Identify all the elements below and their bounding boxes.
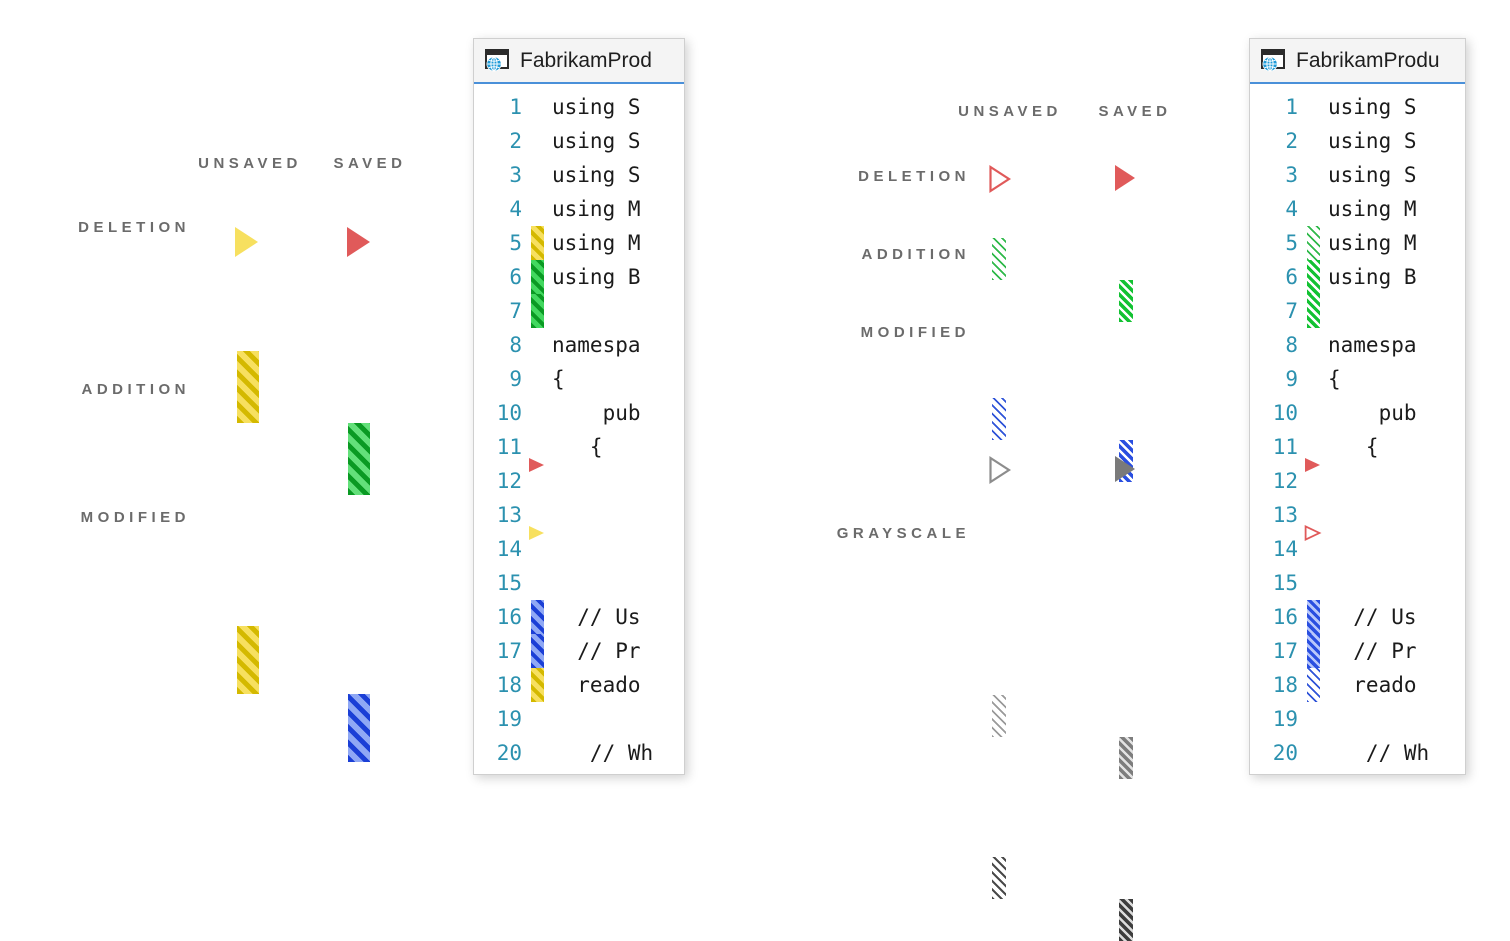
line-number: 5 bbox=[1250, 231, 1302, 255]
pattern-legend-column-header-unsaved: UNSAVED bbox=[940, 103, 1080, 120]
change-gutter[interactable] bbox=[1302, 362, 1328, 396]
change-gutter[interactable] bbox=[526, 124, 552, 158]
pattern-marker-deletion-unsaved bbox=[988, 164, 1012, 194]
gutter-change-bar bbox=[531, 668, 544, 702]
code-line[interactable]: 7 bbox=[474, 294, 684, 328]
code-line[interactable]: 1using S bbox=[1250, 90, 1465, 124]
change-gutter[interactable] bbox=[526, 362, 552, 396]
line-number: 20 bbox=[1250, 741, 1302, 765]
code-line[interactable]: 19 bbox=[1250, 702, 1465, 736]
code-line[interactable]: 6using B bbox=[1250, 260, 1465, 294]
editor-pattern[interactable]: FabrikamProdu 1using S2using S3using S4u… bbox=[1249, 38, 1466, 775]
change-gutter[interactable] bbox=[1302, 532, 1328, 566]
code-line[interactable]: 20 // Wh bbox=[1250, 736, 1465, 770]
legend-row-label-deletion: DELETION bbox=[20, 219, 190, 236]
change-gutter[interactable] bbox=[526, 192, 552, 226]
line-number: 18 bbox=[1250, 673, 1302, 697]
line-number: 2 bbox=[474, 129, 526, 153]
code-text: using S bbox=[1328, 95, 1465, 119]
code-line[interactable]: 8namespa bbox=[1250, 328, 1465, 362]
change-gutter[interactable] bbox=[526, 396, 552, 430]
change-gutter[interactable] bbox=[1302, 260, 1328, 294]
pattern-legend-row-label-modified: MODIFIED bbox=[800, 324, 970, 341]
code-line[interactable]: 15 bbox=[1250, 566, 1465, 600]
line-number: 11 bbox=[474, 435, 526, 459]
comparison-figure: UNSAVED SAVED DELETION ADDITION MODIFIED bbox=[0, 0, 1510, 826]
line-number: 14 bbox=[1250, 537, 1302, 561]
code-line[interactable]: 16 // Us bbox=[1250, 600, 1465, 634]
line-number: 7 bbox=[474, 299, 526, 323]
line-number: 19 bbox=[1250, 707, 1302, 731]
grayscale-marker-deletion-saved bbox=[1115, 456, 1135, 482]
legend-row-label-modified: MODIFIED bbox=[20, 509, 190, 526]
change-gutter[interactable] bbox=[1302, 668, 1328, 702]
line-number: 12 bbox=[474, 469, 526, 493]
code-text: // Pr bbox=[1328, 639, 1465, 663]
legend-column-header-saved: SAVED bbox=[300, 155, 440, 172]
pattern-legend: UNSAVED SAVED DELETION ADDITION MODIFIED… bbox=[760, 0, 1200, 700]
code-line[interactable]: 13 bbox=[474, 498, 684, 532]
change-gutter[interactable] bbox=[1302, 294, 1328, 328]
change-gutter[interactable] bbox=[1302, 328, 1328, 362]
code-text: reado bbox=[1328, 673, 1465, 697]
code-text: { bbox=[1328, 367, 1465, 391]
gutter-change-bar bbox=[531, 600, 544, 634]
gutter-change-bar bbox=[1307, 294, 1320, 328]
change-gutter[interactable] bbox=[1302, 158, 1328, 192]
line-number: 2 bbox=[1250, 129, 1302, 153]
legend-row-label-addition: ADDITION bbox=[20, 381, 190, 398]
change-gutter[interactable] bbox=[526, 600, 552, 634]
code-text: using S bbox=[552, 129, 684, 153]
code-line[interactable]: 20 // Wh bbox=[474, 736, 684, 770]
editor-titlebar[interactable]: FabrikamProd bbox=[474, 39, 684, 84]
code-line[interactable]: 4using M bbox=[1250, 192, 1465, 226]
gutter-change-bar bbox=[531, 634, 544, 668]
editor-code-area[interactable]: 1using S2using S3using S4using M5using M… bbox=[1250, 84, 1465, 770]
line-number: 4 bbox=[474, 197, 526, 221]
code-line[interactable]: 10 pub bbox=[1250, 396, 1465, 430]
pattern-marker-modified-unsaved bbox=[992, 398, 1006, 440]
code-line[interactable]: 15 bbox=[474, 566, 684, 600]
code-line[interactable]: 5using M bbox=[474, 226, 684, 260]
marker-deletion-unsaved bbox=[235, 227, 258, 257]
code-line[interactable]: 16 // Us bbox=[474, 600, 684, 634]
gutter-change-bar bbox=[531, 226, 544, 260]
code-line[interactable]: 5using M bbox=[1250, 226, 1465, 260]
code-line[interactable]: 19 bbox=[474, 702, 684, 736]
line-number: 8 bbox=[474, 333, 526, 357]
marker-addition-unsaved bbox=[237, 351, 259, 423]
code-text: // Us bbox=[552, 605, 684, 629]
change-gutter[interactable] bbox=[1302, 90, 1328, 124]
line-number: 6 bbox=[1250, 265, 1302, 289]
code-text: reado bbox=[552, 673, 684, 697]
change-gutter[interactable] bbox=[526, 668, 552, 702]
change-gutter[interactable] bbox=[526, 532, 552, 566]
code-line[interactable]: 11 { bbox=[1250, 430, 1465, 464]
line-number: 10 bbox=[474, 401, 526, 425]
editor-code-area[interactable]: 1using S2using S3using S4using M5using M… bbox=[474, 84, 684, 770]
grayscale-marker-modified-saved bbox=[1119, 899, 1133, 941]
editor-color[interactable]: FabrikamProd 1using S2using S3using S4us… bbox=[473, 38, 685, 775]
line-number: 1 bbox=[1250, 95, 1302, 119]
pattern-marker-deletion-saved bbox=[1115, 165, 1135, 191]
change-gutter[interactable] bbox=[1302, 124, 1328, 158]
editor-titlebar-right[interactable]: FabrikamProdu bbox=[1250, 39, 1465, 84]
grayscale-marker-deletion-unsaved bbox=[988, 455, 1012, 485]
change-gutter[interactable] bbox=[1302, 736, 1328, 770]
code-text: namespa bbox=[552, 333, 684, 357]
gutter-change-bar bbox=[1307, 668, 1320, 702]
code-line[interactable]: 18 reado bbox=[1250, 668, 1465, 702]
code-line[interactable]: 12 bbox=[474, 464, 684, 498]
code-text: using M bbox=[552, 231, 684, 255]
code-line[interactable]: 9{ bbox=[1250, 362, 1465, 396]
code-line[interactable]: 13 bbox=[1250, 498, 1465, 532]
line-number: 3 bbox=[474, 163, 526, 187]
code-text: // Wh bbox=[552, 741, 684, 765]
code-text: using M bbox=[552, 197, 684, 221]
code-line[interactable]: 11 { bbox=[474, 430, 684, 464]
gutter-deletion-triangle bbox=[528, 455, 546, 473]
code-line[interactable]: 1using S bbox=[474, 90, 684, 124]
change-gutter[interactable] bbox=[526, 90, 552, 124]
change-gutter[interactable] bbox=[526, 260, 552, 294]
pattern-legend-row-label-deletion: DELETION bbox=[800, 168, 970, 185]
pattern-marker-addition-unsaved bbox=[992, 238, 1006, 280]
color-legend: UNSAVED SAVED DELETION ADDITION MODIFIED bbox=[0, 0, 460, 600]
code-text: // Wh bbox=[1328, 741, 1465, 765]
line-number: 17 bbox=[474, 639, 526, 663]
line-number: 8 bbox=[1250, 333, 1302, 357]
code-line[interactable]: 6using B bbox=[474, 260, 684, 294]
legend-column-header-unsaved: UNSAVED bbox=[180, 155, 320, 172]
change-gutter[interactable] bbox=[526, 158, 552, 192]
editor-title-text: FabrikamProd bbox=[520, 49, 652, 73]
change-gutter[interactable] bbox=[526, 736, 552, 770]
pattern-marker-addition-saved bbox=[1119, 280, 1133, 322]
change-gutter[interactable] bbox=[1302, 702, 1328, 736]
change-gutter[interactable] bbox=[526, 634, 552, 668]
code-line[interactable]: 8namespa bbox=[474, 328, 684, 362]
gutter-change-bar bbox=[1307, 260, 1320, 294]
line-number: 20 bbox=[474, 741, 526, 765]
code-text: using S bbox=[552, 163, 684, 187]
gutter-deletion-triangle bbox=[1304, 455, 1322, 473]
code-line[interactable]: 17 // Pr bbox=[474, 634, 684, 668]
gutter-deletion-triangle bbox=[528, 523, 546, 541]
gutter-change-bar bbox=[531, 294, 544, 328]
line-number: 10 bbox=[1250, 401, 1302, 425]
grayscale-marker-modified-unsaved bbox=[992, 857, 1006, 899]
change-gutter[interactable] bbox=[526, 328, 552, 362]
line-number: 13 bbox=[474, 503, 526, 527]
code-line[interactable]: 17 // Pr bbox=[1250, 634, 1465, 668]
line-number: 1 bbox=[474, 95, 526, 119]
code-text: using S bbox=[552, 95, 684, 119]
gutter-change-bar bbox=[1307, 600, 1320, 634]
code-line[interactable]: 7 bbox=[1250, 294, 1465, 328]
editor-title-text: FabrikamProdu bbox=[1296, 49, 1440, 73]
line-number: 15 bbox=[1250, 571, 1302, 595]
code-text: { bbox=[552, 435, 684, 459]
line-number: 6 bbox=[474, 265, 526, 289]
change-gutter[interactable] bbox=[526, 464, 552, 498]
change-gutter[interactable] bbox=[1302, 396, 1328, 430]
code-line[interactable]: 3using S bbox=[474, 158, 684, 192]
code-text: { bbox=[552, 367, 684, 391]
code-text: // Pr bbox=[552, 639, 684, 663]
marker-modified-saved bbox=[348, 694, 370, 762]
line-number: 11 bbox=[1250, 435, 1302, 459]
code-line[interactable]: 3using S bbox=[1250, 158, 1465, 192]
change-gutter[interactable] bbox=[1302, 634, 1328, 668]
line-number: 4 bbox=[1250, 197, 1302, 221]
marker-modified-unsaved bbox=[237, 626, 259, 694]
code-text: // Us bbox=[1328, 605, 1465, 629]
code-line[interactable]: 10 pub bbox=[474, 396, 684, 430]
line-number: 5 bbox=[474, 231, 526, 255]
marker-deletion-saved bbox=[347, 227, 370, 257]
line-number: 17 bbox=[1250, 639, 1302, 663]
code-line[interactable]: 18 reado bbox=[474, 668, 684, 702]
gutter-change-bar bbox=[1307, 634, 1320, 668]
line-number: 16 bbox=[1250, 605, 1302, 629]
line-number: 15 bbox=[474, 571, 526, 595]
change-gutter[interactable] bbox=[1302, 566, 1328, 600]
grayscale-marker-addition-saved bbox=[1119, 737, 1133, 779]
line-number: 9 bbox=[474, 367, 526, 391]
code-text: using S bbox=[1328, 129, 1465, 153]
line-number: 3 bbox=[1250, 163, 1302, 187]
change-gutter[interactable] bbox=[1302, 226, 1328, 260]
change-gutter[interactable] bbox=[1302, 600, 1328, 634]
code-line[interactable]: 2using S bbox=[1250, 124, 1465, 158]
gutter-deletion-triangle bbox=[1304, 523, 1322, 541]
code-text: namespa bbox=[1328, 333, 1465, 357]
code-text: using M bbox=[1328, 231, 1465, 255]
code-text: using M bbox=[1328, 197, 1465, 221]
code-line[interactable]: 14 bbox=[474, 532, 684, 566]
code-text: using S bbox=[1328, 163, 1465, 187]
change-gutter[interactable] bbox=[1302, 464, 1328, 498]
line-number: 18 bbox=[474, 673, 526, 697]
pattern-legend-row-label-grayscale: GRAYSCALE bbox=[780, 525, 970, 542]
line-number: 7 bbox=[1250, 299, 1302, 323]
line-number: 9 bbox=[1250, 367, 1302, 391]
code-text: pub bbox=[1328, 401, 1465, 425]
gutter-change-bar bbox=[1307, 226, 1320, 260]
change-gutter[interactable] bbox=[1302, 192, 1328, 226]
code-line[interactable]: 9{ bbox=[474, 362, 684, 396]
pattern-legend-column-header-saved: SAVED bbox=[1065, 103, 1205, 120]
web-form-globe-icon bbox=[485, 49, 511, 73]
marker-addition-saved bbox=[348, 423, 370, 495]
line-number: 16 bbox=[474, 605, 526, 629]
change-gutter[interactable] bbox=[526, 702, 552, 736]
code-text: using B bbox=[1328, 265, 1465, 289]
change-gutter[interactable] bbox=[526, 226, 552, 260]
code-line[interactable]: 12 bbox=[1250, 464, 1465, 498]
grayscale-marker-addition-unsaved bbox=[992, 695, 1006, 737]
code-text: using B bbox=[552, 265, 684, 289]
pattern-legend-row-label-addition: ADDITION bbox=[800, 246, 970, 263]
code-text: pub bbox=[552, 401, 684, 425]
code-line[interactable]: 14 bbox=[1250, 532, 1465, 566]
line-number: 14 bbox=[474, 537, 526, 561]
code-text: { bbox=[1328, 435, 1465, 459]
line-number: 13 bbox=[1250, 503, 1302, 527]
code-line[interactable]: 4using M bbox=[474, 192, 684, 226]
code-line[interactable]: 2using S bbox=[474, 124, 684, 158]
change-gutter[interactable] bbox=[526, 566, 552, 600]
web-form-globe-icon bbox=[1261, 49, 1287, 73]
gutter-change-bar bbox=[531, 260, 544, 294]
change-gutter[interactable] bbox=[526, 294, 552, 328]
line-number: 19 bbox=[474, 707, 526, 731]
line-number: 12 bbox=[1250, 469, 1302, 493]
